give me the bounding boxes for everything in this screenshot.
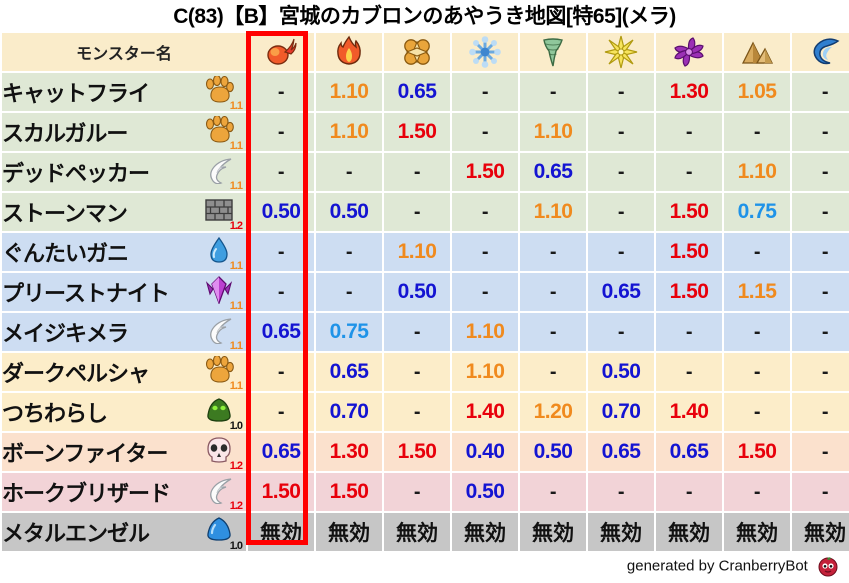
monster-name-cell[interactable]: ボーンファイター 1.2 — [2, 433, 246, 471]
resistance-value-cell: - — [520, 233, 586, 271]
resistance-value-cell: 1.40 — [452, 393, 518, 431]
resistance-value-cell: - — [248, 153, 314, 191]
resistance-value-cell: 1.50 — [656, 273, 722, 311]
monster-name-label: ボーンファイター — [2, 436, 167, 468]
table-row: キャットフライ 1.1-1.100.65---1.301.05- — [2, 73, 849, 111]
monster-name-label: メタルエンゼル — [2, 516, 149, 548]
resistance-value-cell: 0.65 — [384, 73, 450, 111]
resistance-value-cell: - — [384, 153, 450, 191]
monster-name-cell[interactable]: ぐんたいガニ 1.1 — [2, 233, 246, 271]
resistance-value-cell: 0.70 — [588, 393, 654, 431]
monster-name-cell[interactable]: メイジキメラ 1.1 — [2, 313, 246, 351]
explosion-icon — [400, 35, 434, 69]
resistance-value-cell: - — [248, 393, 314, 431]
monster-multiplier: 1.1 — [230, 341, 242, 351]
monster-multiplier: 1.0 — [230, 421, 242, 431]
resistance-value-cell: 1.50 — [248, 473, 314, 511]
resistance-value-cell: 無効 — [656, 513, 722, 551]
resistance-value-cell: 1.10 — [384, 233, 450, 271]
resistance-value-cell: - — [520, 273, 586, 311]
resistance-value-cell: 0.65 — [656, 433, 722, 471]
page-root: C(83)【B】宮城のカブロンのあやうき地図[特65](メラ) モンスター名 — [0, 0, 849, 583]
column-header-element-9[interactable] — [792, 33, 849, 71]
resistance-value-cell: - — [384, 193, 450, 231]
resistance-value-cell: - — [248, 113, 314, 151]
monster-name-cell[interactable]: キャットフライ 1.1 — [2, 73, 246, 111]
resistance-value-cell: 1.10 — [520, 193, 586, 231]
resistance-value-cell: - — [792, 473, 849, 511]
resistance-value-cell: - — [792, 393, 849, 431]
resistance-value-cell: 0.65 — [316, 353, 382, 391]
resistance-value-cell: 1.15 — [724, 273, 790, 311]
resistance-value-cell: 1.20 — [520, 393, 586, 431]
resistance-value-cell: 0.50 — [248, 193, 314, 231]
resistance-value-cell: - — [724, 473, 790, 511]
monster-multiplier: 1.0 — [230, 541, 242, 551]
resistance-value-cell: - — [588, 313, 654, 351]
resistance-value-cell: - — [724, 233, 790, 271]
resistance-value-cell: 無効 — [316, 513, 382, 551]
monster-name-label: デッドペッカー — [2, 156, 149, 188]
resistance-value-cell: - — [792, 193, 849, 231]
resistance-value-cell: 1.10 — [316, 73, 382, 111]
monster-name-cell[interactable]: つちわらし 1.0 — [2, 393, 246, 431]
column-header-element-4[interactable] — [452, 33, 518, 71]
column-header-element-2[interactable] — [316, 33, 382, 71]
monster-name-label: ストーンマン — [2, 196, 127, 228]
table-row: ボーンファイター 1.20.651.301.500.400.500.650.65… — [2, 433, 849, 471]
resistance-value-cell: - — [588, 73, 654, 111]
column-header-element-5[interactable] — [520, 33, 586, 71]
resistance-value-cell: - — [248, 353, 314, 391]
resistance-value-cell: 無効 — [452, 513, 518, 551]
resistance-value-cell: - — [452, 193, 518, 231]
resistance-value-cell: 1.50 — [384, 433, 450, 471]
monster-name-label: つちわらし — [2, 396, 107, 428]
resistance-value-cell: - — [656, 353, 722, 391]
resistance-value-cell: - — [792, 233, 849, 271]
monster-name-cell[interactable]: プリーストナイト 1.1 — [2, 273, 246, 311]
column-header-element-6[interactable] — [588, 33, 654, 71]
resistance-value-cell: 無効 — [792, 513, 849, 551]
monster-name-cell[interactable]: ホークブリザード 1.2 — [2, 473, 246, 511]
resistance-value-cell: 0.50 — [452, 473, 518, 511]
resistance-value-cell: 1.10 — [724, 153, 790, 191]
resistance-value-cell: 1.05 — [724, 73, 790, 111]
resistance-value-cell: - — [588, 233, 654, 271]
resistance-value-cell: - — [384, 393, 450, 431]
resistance-value-cell: 0.65 — [248, 313, 314, 351]
resistance-value-cell: 無効 — [384, 513, 450, 551]
resistance-value-cell: 1.50 — [656, 193, 722, 231]
resistance-value-cell: - — [452, 113, 518, 151]
purple-swirl-icon — [672, 35, 706, 69]
resistance-value-cell: - — [452, 233, 518, 271]
resistance-value-cell: - — [384, 473, 450, 511]
resistance-value-cell: 無効 — [724, 513, 790, 551]
resistance-value-cell: 0.65 — [588, 273, 654, 311]
mountain-icon — [740, 35, 774, 69]
column-header-element-7[interactable] — [656, 33, 722, 71]
monster-name-label: キャットフライ — [2, 76, 149, 108]
resistance-value-cell: - — [792, 353, 849, 391]
resistance-value-cell: - — [520, 313, 586, 351]
resistance-value-cell: 0.65 — [520, 153, 586, 191]
monster-name-label: プリーストナイト — [2, 276, 169, 308]
resistance-value-cell: - — [792, 313, 849, 351]
resistance-value-cell: 無効 — [248, 513, 314, 551]
monster-multiplier: 1.1 — [230, 181, 242, 191]
resistance-value-cell: 1.50 — [656, 233, 722, 271]
resistance-value-cell: - — [248, 273, 314, 311]
monster-name-cell[interactable]: ダークペルシャ 1.1 — [2, 353, 246, 391]
column-header-element-3[interactable] — [384, 33, 450, 71]
resistance-value-cell: - — [588, 113, 654, 151]
monster-name-cell[interactable]: スカルガルー 1.1 — [2, 113, 246, 151]
resistance-value-cell: - — [656, 313, 722, 351]
resistance-value-cell: - — [792, 273, 849, 311]
resistance-value-cell: - — [724, 313, 790, 351]
resistance-value-cell: 1.40 — [656, 393, 722, 431]
monster-multiplier: 1.2 — [230, 221, 242, 231]
resistance-value-cell: - — [520, 73, 586, 111]
resistance-value-cell: 0.50 — [384, 273, 450, 311]
resistance-value-cell: - — [588, 473, 654, 511]
resistance-value-cell: 0.50 — [520, 433, 586, 471]
monster-multiplier: 1.2 — [230, 501, 242, 511]
monster-name-cell[interactable]: メタルエンゼル 1.0 — [2, 513, 246, 551]
resistance-value-cell: 1.50 — [384, 113, 450, 151]
table-row: ホークブリザード 1.21.501.50-0.50----- — [2, 473, 849, 511]
monster-name-label: ダークペルシャ — [2, 356, 149, 388]
resistance-value-cell: - — [316, 153, 382, 191]
wave-icon — [808, 35, 842, 69]
table-body: モンスター名 — [2, 33, 849, 551]
resistance-value-cell: - — [452, 73, 518, 111]
monster-name-label: ぐんたいガニ — [2, 236, 128, 268]
resistance-value-cell: - — [384, 353, 450, 391]
monster-multiplier: 1.1 — [230, 101, 242, 111]
resistance-value-cell: - — [724, 113, 790, 151]
resistance-value-cell: 1.10 — [452, 353, 518, 391]
resistance-value-cell: - — [656, 153, 722, 191]
monster-multiplier: 1.1 — [230, 141, 242, 151]
resistance-value-cell: 1.10 — [316, 113, 382, 151]
monster-name-cell[interactable]: ストーンマン 1.2 — [2, 193, 246, 231]
fireball-icon — [264, 35, 298, 69]
resistance-value-cell: 1.10 — [520, 113, 586, 151]
resistance-value-cell: 1.50 — [724, 433, 790, 471]
table-header-row: モンスター名 — [2, 33, 849, 71]
resistance-table: モンスター名 — [0, 31, 849, 553]
column-header-element-1[interactable] — [248, 33, 314, 71]
resistance-value-cell: - — [248, 233, 314, 271]
resistance-value-cell: 0.75 — [724, 193, 790, 231]
lightning-star-icon — [604, 35, 638, 69]
table-row: ぐんたいガニ 1.1--1.10---1.50-- — [2, 233, 849, 271]
flame-icon — [332, 35, 366, 69]
resistance-value-cell: - — [520, 353, 586, 391]
resistance-value-cell: 0.75 — [316, 313, 382, 351]
resistance-value-cell: 無効 — [520, 513, 586, 551]
resistance-value-cell: - — [588, 193, 654, 231]
table-row: プリーストナイト 1.1--0.50--0.651.501.15- — [2, 273, 849, 311]
monster-name-label: メイジキメラ — [2, 316, 128, 348]
table-row: ストーンマン 1.20.500.50--1.10-1.500.75- — [2, 193, 849, 231]
resistance-value-cell: - — [792, 113, 849, 151]
resistance-value-cell: 1.10 — [452, 313, 518, 351]
resistance-value-cell: - — [792, 433, 849, 471]
column-header-monster-name: モンスター名 — [2, 33, 246, 71]
table-row: スカルガルー 1.1-1.101.50-1.10---- — [2, 113, 849, 151]
resistance-value-cell: 0.40 — [452, 433, 518, 471]
resistance-value-cell: 0.65 — [248, 433, 314, 471]
resistance-value-cell: - — [724, 393, 790, 431]
resistance-value-cell: 1.30 — [316, 433, 382, 471]
resistance-value-cell: - — [792, 153, 849, 191]
monster-name-label: スカルガルー — [2, 116, 127, 148]
table-row: デッドペッカー 1.1---1.500.65--1.10- — [2, 153, 849, 191]
monster-multiplier: 1.1 — [230, 301, 242, 311]
snowflake-icon — [468, 35, 502, 69]
table-row: ダークペルシャ 1.1-0.65-1.10-0.50--- — [2, 353, 849, 391]
resistance-value-cell: - — [724, 353, 790, 391]
resistance-value-cell: - — [656, 113, 722, 151]
resistance-value-cell: - — [384, 313, 450, 351]
resistance-value-cell: 1.30 — [656, 73, 722, 111]
resistance-value-cell: - — [316, 233, 382, 271]
resistance-value-cell: - — [316, 273, 382, 311]
monster-multiplier: 1.1 — [230, 261, 242, 271]
resistance-value-cell: 1.50 — [452, 153, 518, 191]
monster-multiplier: 1.2 — [230, 461, 242, 471]
footer-text: generated by CranberryBot — [627, 558, 808, 575]
table-row: メイジキメラ 1.10.650.75-1.10----- — [2, 313, 849, 351]
resistance-value-cell: 0.50 — [316, 193, 382, 231]
resistance-value-cell: 0.65 — [588, 433, 654, 471]
resistance-value-cell: 0.50 — [588, 353, 654, 391]
resistance-value-cell: - — [248, 73, 314, 111]
footer-credit: generated by CranberryBot — [627, 555, 839, 577]
resistance-value-cell: 1.50 — [316, 473, 382, 511]
resistance-value-cell: 0.70 — [316, 393, 382, 431]
resistance-value-cell: - — [792, 73, 849, 111]
tornado-icon — [536, 35, 570, 69]
resistance-value-cell: - — [656, 473, 722, 511]
monster-name-cell[interactable]: デッドペッカー 1.1 — [2, 153, 246, 191]
monster-name-label: ホークブリザード — [2, 476, 170, 508]
cranberry-bot-icon — [817, 555, 839, 577]
resistance-value-cell: - — [452, 273, 518, 311]
page-title: C(83)【B】宮城のカブロンのあやうき地図[特65](メラ) — [0, 0, 849, 31]
resistance-value-cell: - — [588, 153, 654, 191]
monster-multiplier: 1.1 — [230, 381, 242, 391]
resistance-value-cell: 無効 — [588, 513, 654, 551]
column-header-element-8[interactable] — [724, 33, 790, 71]
table-row: つちわらし 1.0-0.70-1.401.200.701.40-- — [2, 393, 849, 431]
table-row: メタルエンゼル 1.0無効無効無効無効無効無効無効無効無効 — [2, 513, 849, 551]
resistance-value-cell: - — [520, 473, 586, 511]
